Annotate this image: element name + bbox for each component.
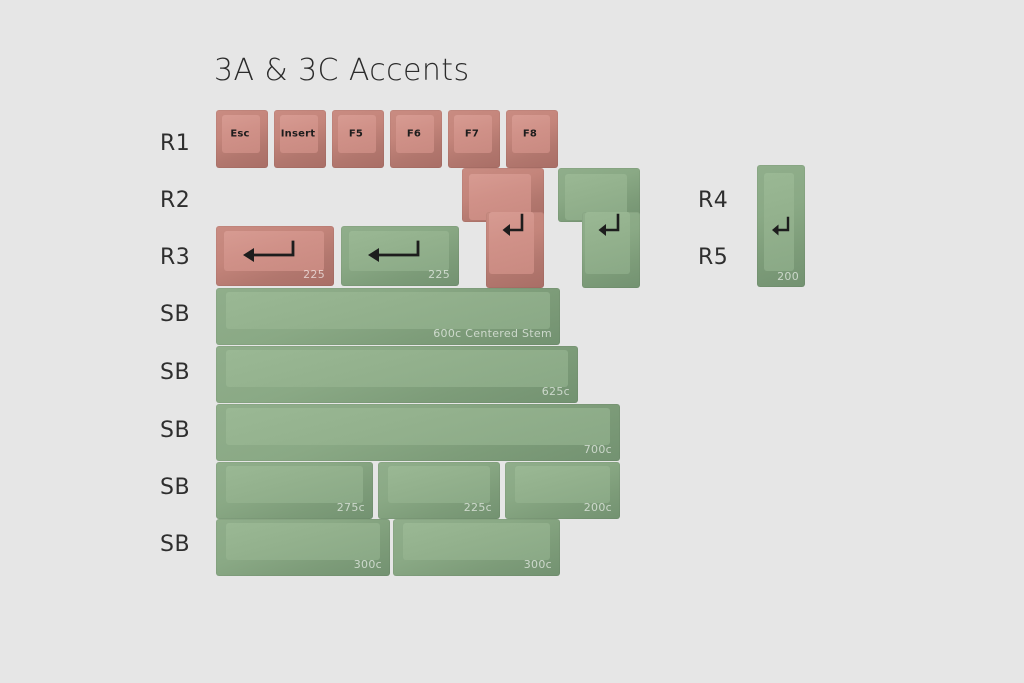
keycap-size-code: 225c [464,501,492,514]
keycap-legend: F5 [349,129,363,140]
keycap-top [403,523,550,560]
keycap-legend: F6 [407,129,421,140]
row-label-sb2: SB [160,360,190,385]
enter-arrow-icon [767,214,793,240]
row-label-r1: R1 [160,131,190,156]
keycap-size-code: 600c Centered Stem [433,327,552,340]
keycap-f6[interactable]: F6 [390,110,442,168]
keycap-numpad-enter-green[interactable]: 200 [757,165,805,287]
keycap-esc[interactable]: Esc [216,110,268,168]
keycap-top [226,350,568,387]
page-title: 3A & 3C Accents [214,53,470,88]
keycap-size-code: 700c [584,443,612,456]
keycap-spacebar-300c-left[interactable]: 300c [216,519,390,576]
keycap-top [515,466,610,503]
keycap-spacebar-275c[interactable]: 275c [216,462,373,519]
row-label-sb4: SB [160,475,190,500]
keycap-spacebar-600c[interactable]: 600c Centered Stem [216,288,560,345]
keycap-legend: Insert [281,129,316,140]
keycap-iso-enter-pink[interactable] [462,168,544,288]
keycap-top [388,466,490,503]
keycap-f5[interactable]: F5 [332,110,384,168]
row-label-r4: R4 [698,188,728,213]
backspace-arrow-icon [362,238,424,266]
keycap-size-code: 300c [354,558,382,571]
keycap-top [226,523,380,560]
row-label-sb5: SB [160,532,190,557]
keycap-backspace-pink[interactable]: 225 [216,226,334,286]
keycap-f7[interactable]: F7 [448,110,500,168]
backspace-arrow-icon [237,238,299,266]
keycap-legend: F7 [465,129,479,140]
keycap-size-code: 625c [542,385,570,398]
keycap-top [226,292,550,329]
keycap-f8[interactable]: F8 [506,110,558,168]
row-label-sb3: SB [160,418,190,443]
keycap-spacebar-300c-right[interactable]: 300c [393,519,560,576]
row-label-sb1: SB [160,302,190,327]
row-label-r5: R5 [698,245,728,270]
keycap-legend: Esc [230,129,249,140]
row-label-r2: R2 [160,188,190,213]
keycap-size-code: 200c [584,501,612,514]
keycap-spacebar-625c[interactable]: 625c [216,346,578,403]
row-label-r3: R3 [160,245,190,270]
keycap-top [226,408,610,445]
enter-arrow-icon [593,211,623,241]
keycap-size-code: 225 [428,268,450,281]
keycap-legend: F8 [523,129,537,140]
enter-arrow-icon [497,211,527,241]
keycap-spacebar-200c[interactable]: 200c [505,462,620,519]
keycap-insert[interactable]: Insert [274,110,326,168]
keycap-size-code: 275c [337,501,365,514]
keycap-spacebar-700c[interactable]: 700c [216,404,620,461]
keycap-top [226,466,363,503]
keycap-size-code: 225 [303,268,325,281]
keycap-spacebar-225c[interactable]: 225c [378,462,500,519]
keycap-size-code: 300c [524,558,552,571]
keycap-kit-diagram: 3A & 3C Accents R1 R2 R3 SB SB SB SB SB … [0,0,1024,683]
keycap-size-code: 200 [777,270,799,283]
keycap-iso-enter-green[interactable] [558,168,640,288]
keycap-backspace-green[interactable]: 225 [341,226,459,286]
